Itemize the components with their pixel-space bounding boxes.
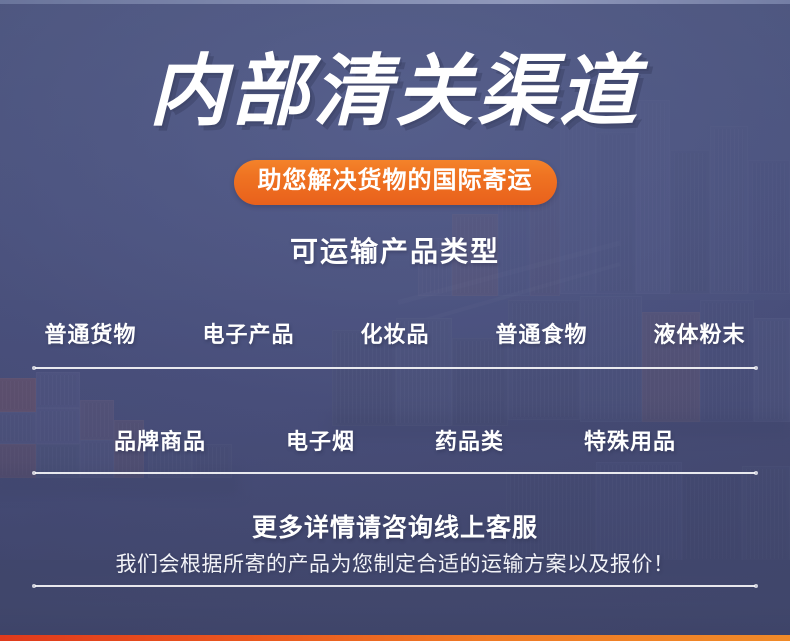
product-type-item: 品牌商品	[114, 424, 206, 456]
product-type-item: 特殊用品	[584, 424, 676, 456]
footer-heading: 更多详情请咨询线上客服	[0, 508, 790, 544]
product-type-item: 普通食物	[496, 317, 588, 349]
section-divider	[35, 585, 755, 587]
bottom-accent-strip	[0, 635, 790, 641]
product-type-item: 电子烟	[286, 424, 355, 456]
section-subtitle: 可运输产品类型	[0, 230, 790, 270]
footer-subtext: 我们会根据所寄的产品为您制定合适的运输方案以及报价！	[0, 548, 790, 578]
product-type-item: 化妆品	[360, 317, 429, 349]
product-type-item: 药品类	[435, 424, 504, 456]
section-divider	[35, 472, 755, 474]
banner-content: 内部清关渠道 助您解决货物的国际寄运 可运输产品类型 普通货物 电子产品 化妆品…	[0, 0, 790, 641]
product-type-row-2: 品牌商品 电子烟 药品类 特殊用品	[0, 424, 790, 456]
product-type-item: 普通货物	[44, 317, 136, 349]
page-title: 内部清关渠道	[0, 52, 790, 130]
product-type-item: 电子产品	[202, 317, 294, 349]
product-type-item: 液体粉末	[654, 317, 746, 349]
product-type-row-1: 普通货物 电子产品 化妆品 普通食物 液体粉末	[0, 317, 790, 349]
tagline-badge: 助您解决货物的国际寄运	[234, 160, 557, 205]
tagline-badge-wrapper: 助您解决货物的国际寄运	[0, 160, 790, 205]
promo-banner: 内部清关渠道 助您解决货物的国际寄运 可运输产品类型 普通货物 电子产品 化妆品…	[0, 0, 790, 641]
section-divider	[35, 367, 755, 369]
